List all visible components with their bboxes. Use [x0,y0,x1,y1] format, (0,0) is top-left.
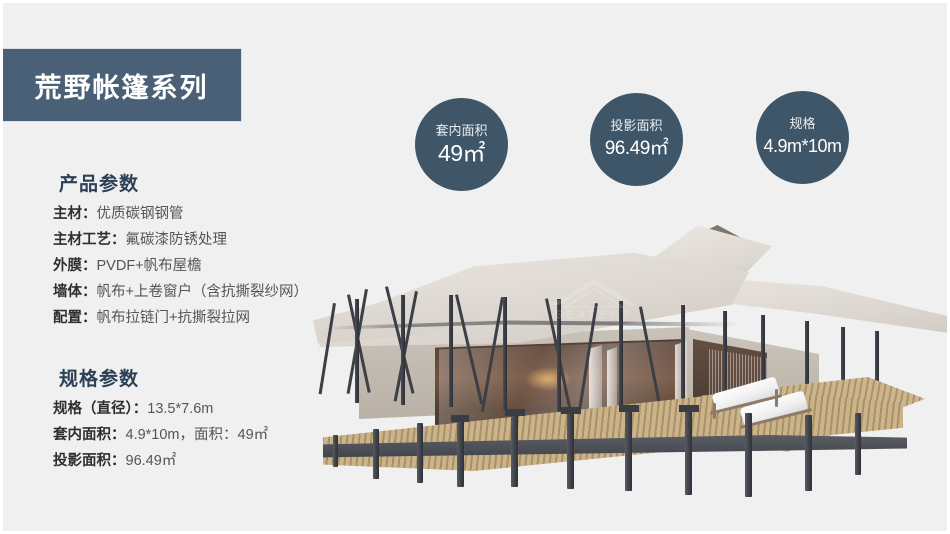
steel-post [503,297,507,411]
stilt-cap [451,415,469,422]
deck-stilt [417,423,423,483]
spec-parameter-list: 规格（直径）：13.5*7.6m 套内面积：4.9*10m，面积：49㎡ 投影面… [53,396,268,474]
param-label: 投影面积： [53,453,126,469]
list-item: 主材工艺：氟碳漆防锈处理 [53,227,308,253]
steel-post [401,295,405,405]
stilt-cap [505,409,525,416]
steel-post [355,299,359,403]
stat-label: 投影面积 [610,118,662,134]
stat-circle-projected-area: 投影面积 96.49㎡ [590,93,683,186]
list-item: 套内面积：4.9*10m，面积：49㎡ [53,422,268,448]
param-value: 帆布+上卷窗户（含抗撕裂纱网） [97,284,308,300]
spec-section-heading: 规格参数 [59,364,139,391]
tent-render-image: SEATENT [289,199,950,534]
param-label: 规格（直径）： [53,401,147,417]
lounge-chair-frame [775,389,778,407]
deck-stilt [625,409,632,491]
product-section-heading: 产品参数 [59,169,139,196]
param-value: PVDF+帆布屋檐 [97,258,202,274]
param-value: 96.49㎡ [126,453,177,469]
stat-value: 49㎡ [438,140,485,167]
deck-stilt [511,413,518,487]
deck-stilt [457,419,464,487]
list-item: 投影面积：96.49㎡ [53,448,268,474]
stilt-cap [619,405,639,412]
deck-stilt [333,435,338,467]
param-value: 优质碳钢钢管 [97,206,184,222]
title-banner: 荒野帐篷系列 [1,48,242,122]
deck-stilt [805,415,812,491]
deck-stilt [685,409,692,495]
deck-stilt [745,413,752,497]
deck-stilt [373,429,379,479]
deck-stilt [567,411,574,489]
page-title: 荒野帐篷系列 [35,66,209,105]
stilt-cap [679,405,699,412]
list-item: 规格（直径）：13.5*7.6m [53,396,268,422]
steel-post [449,295,453,407]
stat-value: 4.9m*10m [763,133,841,160]
param-value: 4.9*10m，面积：49㎡ [126,427,269,443]
stilt-cap [561,407,581,414]
stat-label: 规格 [789,116,815,132]
watermark-text: SEATENT [519,309,669,321]
param-value: 13.5*7.6m [147,401,213,417]
deck-stilt [855,413,861,475]
list-item: 墙体：帆布+上卷窗户（含抗撕裂纱网） [53,279,308,305]
param-label: 主材： [53,206,97,222]
stat-circle-dimensions: 规格 4.9m*10m [756,91,849,184]
stat-label: 套内面积 [435,123,487,139]
list-item: 配置：帆布拉链门+抗撕裂拉网 [53,305,308,331]
param-label: 配置： [53,310,97,326]
list-item: 主材：优质碳钢钢管 [53,201,308,227]
stat-circle-interior-area: 套内面积 49㎡ [415,98,508,191]
list-item: 外膜：PVDF+帆布屋檐 [53,253,308,279]
param-label: 主材工艺： [53,232,126,248]
stat-value: 96.49㎡ [605,135,669,162]
param-value: 帆布拉链门+抗撕裂拉网 [97,310,250,326]
param-label: 墙体： [53,284,97,300]
watermark: SEATENT [519,275,669,337]
product-parameter-list: 主材：优质碳钢钢管 主材工艺：氟碳漆防锈处理 外膜：PVDF+帆布屋檐 墙体：帆… [53,201,308,331]
lounge-chair-frame [713,403,716,419]
page-root: 荒野帐篷系列 产品参数 主材：优质碳钢钢管 主材工艺：氟碳漆防锈处理 外膜：PV… [0,0,950,534]
param-label: 套内面积： [53,427,126,443]
param-label: 外膜： [53,258,97,274]
param-value: 氟碳漆防锈处理 [126,232,228,248]
